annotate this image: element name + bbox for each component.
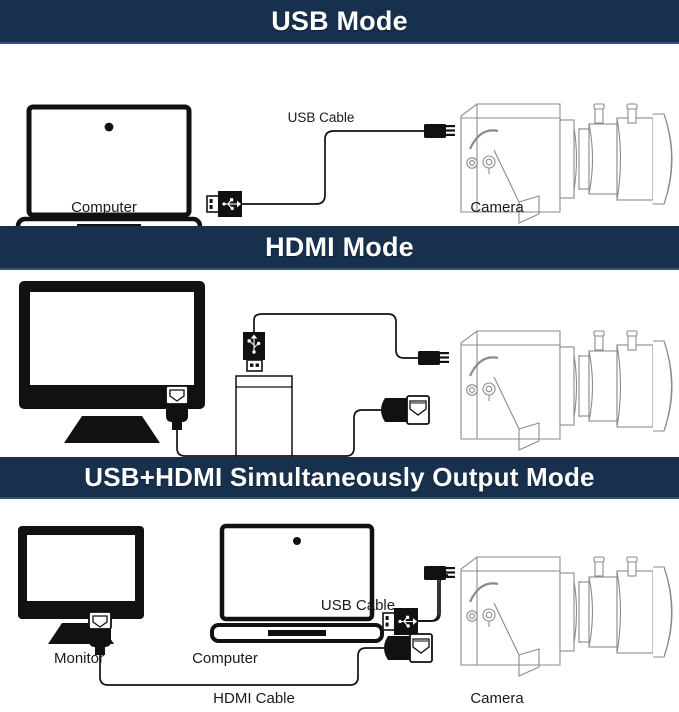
hdmi-mode-illustration [0,270,679,457]
stage-usb-hdmi-mode: USB Cable Monitor Computer HDMI Cable Ca… [0,499,679,712]
usb-cable-label: USB Cable [288,110,355,125]
camera-usb-plug-icon [424,566,455,580]
stage-hdmi-mode: Power Bank 5V 2A Monitor HDMI Cable Came… [0,270,679,457]
banner-usb-hdmi-mode: USB+HDMI Simultaneously Output Mode [0,457,679,499]
banner-title-usb-hdmi-mode: USB+HDMI Simultaneously Output Mode [84,462,594,493]
hdmi-plug-camera-icon [384,634,432,662]
camera-usb-plug-icon [418,351,449,365]
usb-power-cable-path [254,314,418,358]
hdmi-plug-monitor-icon [166,386,188,430]
usb-a-plug-icon [207,191,242,217]
panel-usb-mode: USB Mode [0,0,679,226]
usb-cable-label: USB Cable [321,597,395,614]
stage-usb-mode: USB Cable Computer Camera [0,44,679,226]
computer-illustration [212,526,382,641]
banner-title-usb-mode: USB Mode [271,6,408,37]
computer-label: Computer [192,650,258,667]
banner-hdmi-mode: HDMI Mode [0,226,679,270]
diagram-sheet: USB Mode [0,0,679,668]
usb-cable-path [418,575,448,621]
usb-power-plug-icon [243,332,265,371]
hdmi-plug-camera-icon [381,396,429,424]
banner-title-hdmi-mode: HDMI Mode [265,232,414,263]
monitor-label: Monitor [54,650,104,667]
panel-usb-hdmi-mode: USB+HDMI Simultaneously Output Mode [0,457,679,712]
power-bank-illustration [236,376,292,457]
camera-usb-plug-icon [424,124,455,138]
camera-label: Camera [470,690,523,707]
panel-hdmi-mode: HDMI Mode [0,226,679,457]
banner-usb-mode: USB Mode [0,0,679,44]
camera-illustration [461,557,672,676]
camera-label: Camera [470,199,523,216]
usb-cable-path [242,131,424,204]
hdmi-plug-monitor-icon [89,612,111,655]
hdmi-cable-label: HDMI Cable [213,690,295,707]
camera-illustration [461,331,672,450]
monitor-illustration [18,526,144,644]
computer-label: Computer [71,199,137,216]
